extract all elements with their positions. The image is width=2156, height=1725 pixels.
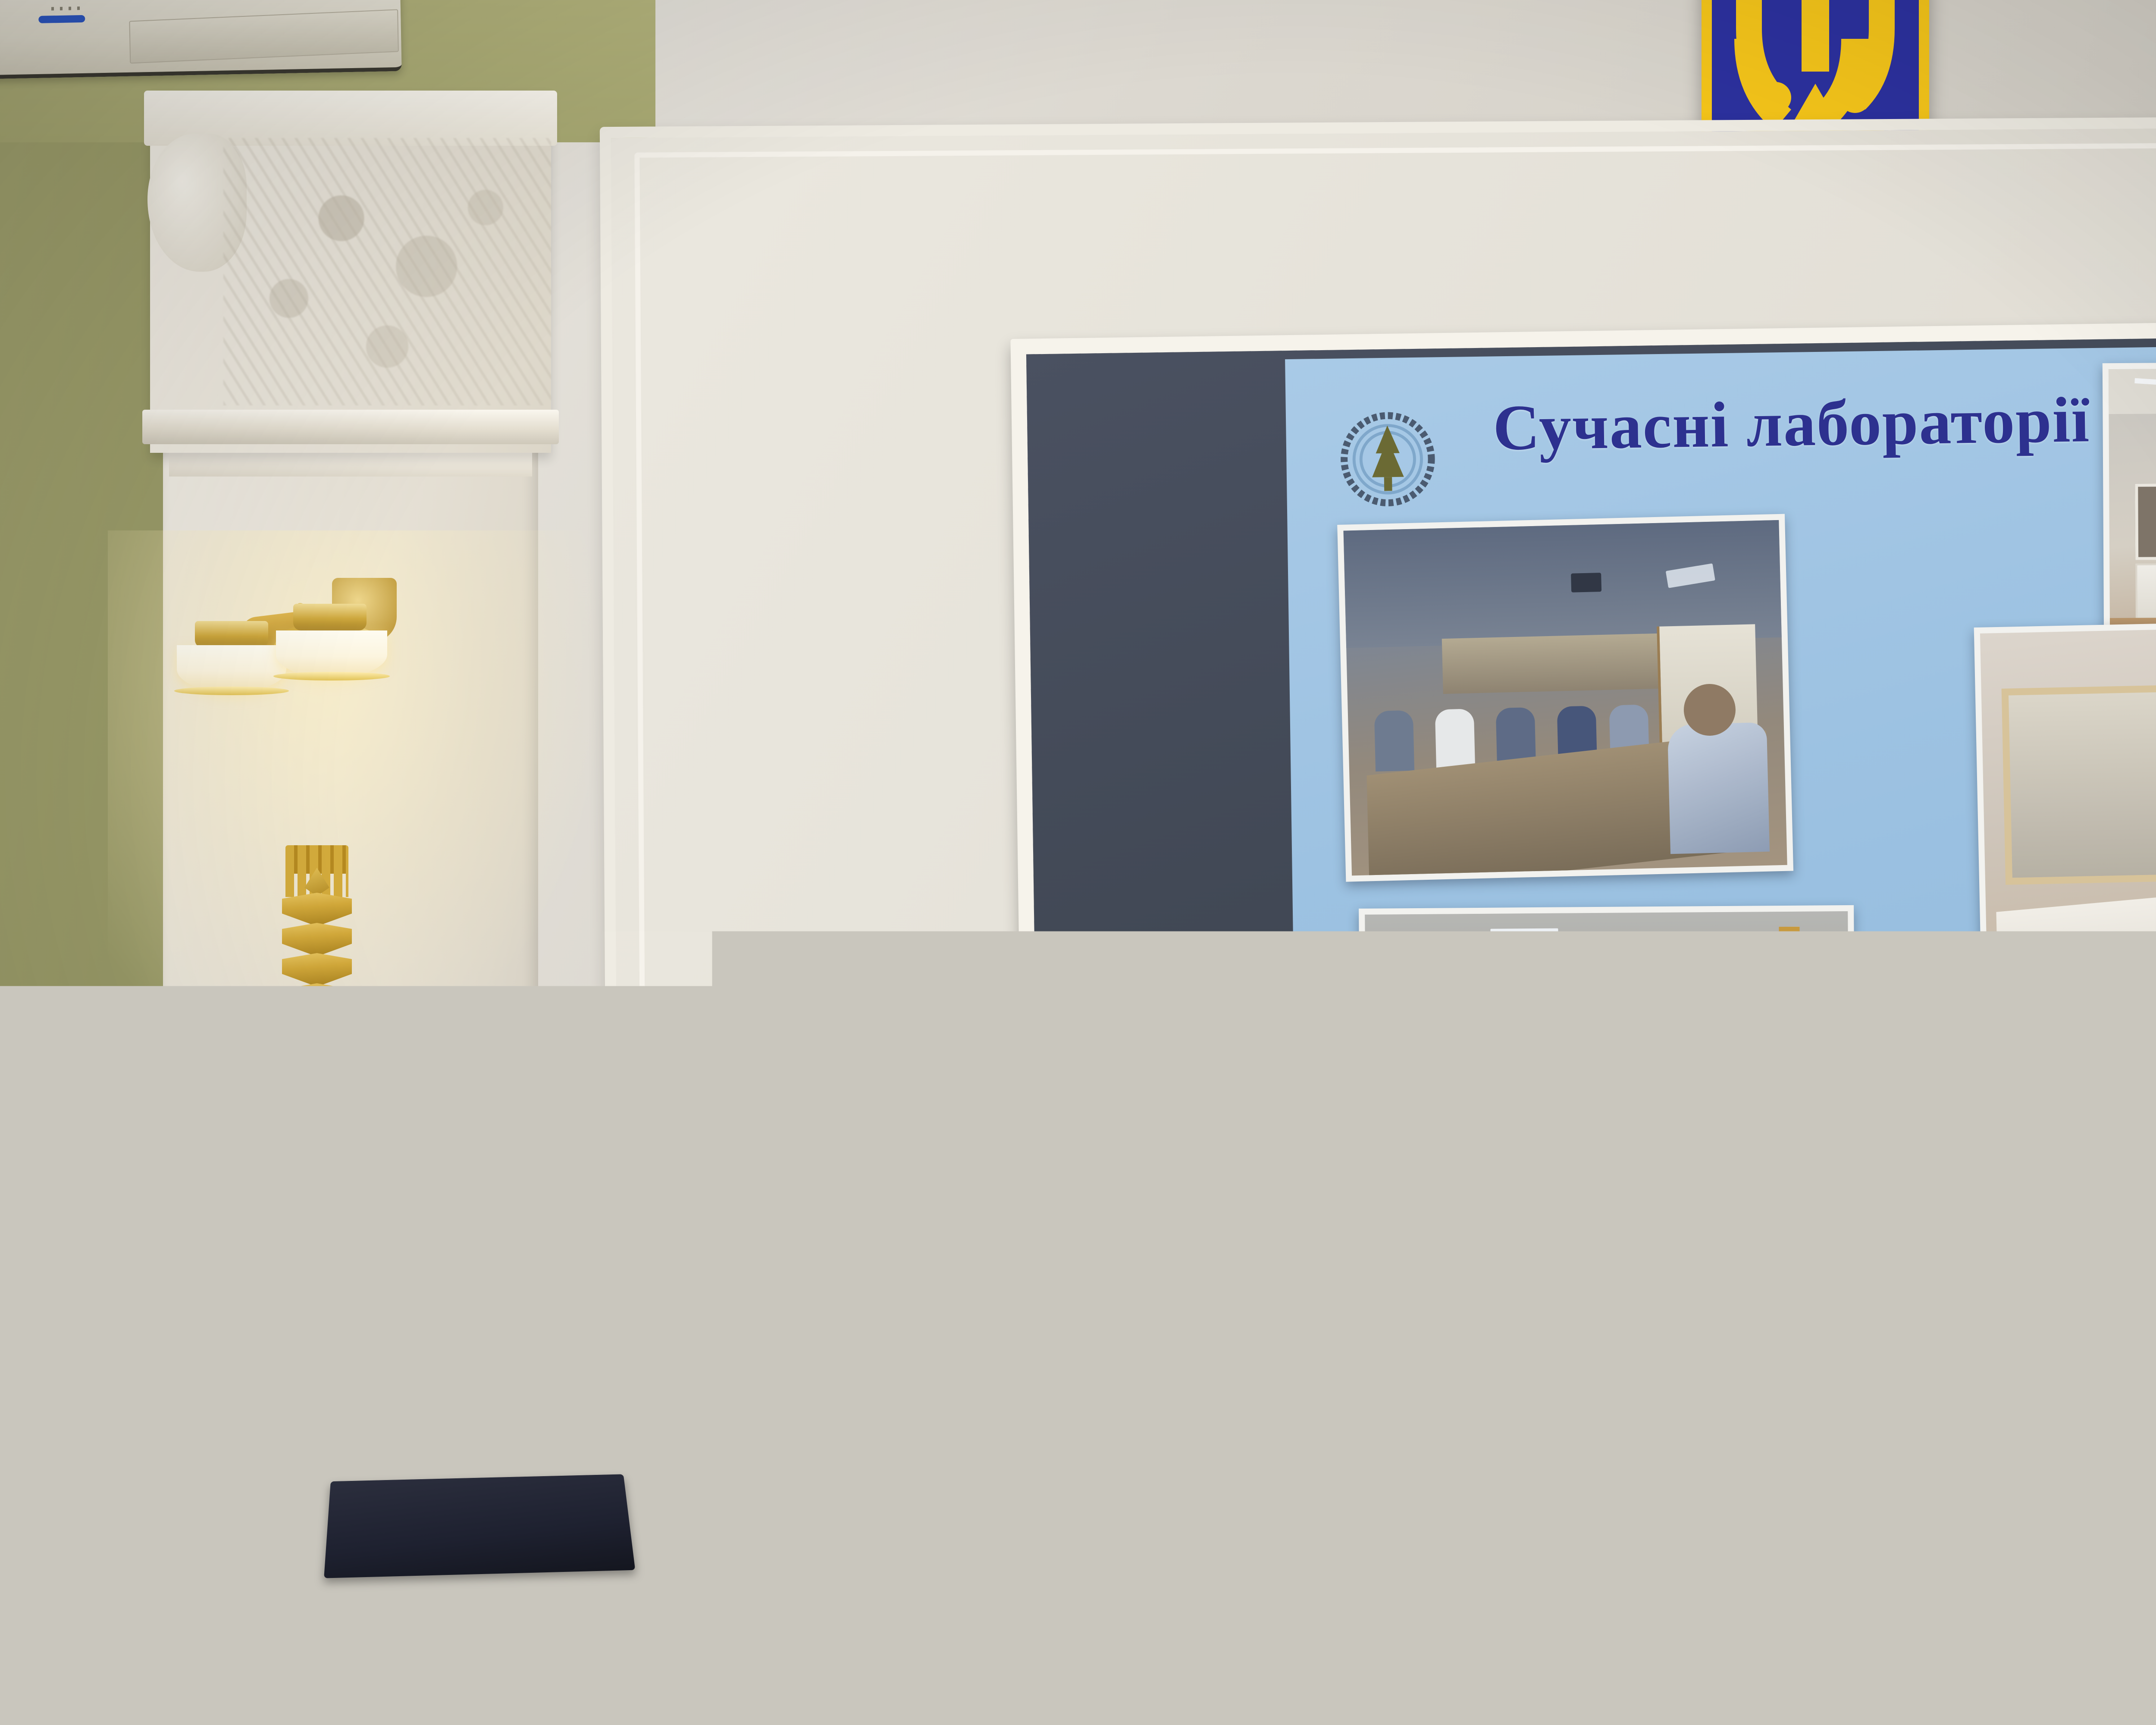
university-emblem-icon	[1338, 409, 1438, 509]
monitor-ports	[1315, 1673, 1554, 1686]
sconce-shade-lip-left	[174, 687, 289, 695]
wheat-leaf	[282, 953, 352, 987]
slide-title: Сучасні лабораторії	[1492, 383, 2090, 465]
wheat-leaf	[282, 1013, 352, 1047]
photograph-canvas: Сучасні лабораторії	[0, 0, 2156, 1725]
podium	[229, 1570, 763, 1725]
podium-wood-grain	[229, 1570, 763, 1725]
slide-photo-computer-classroom	[1337, 514, 1793, 882]
monitor-brand-label: acer	[1540, 1615, 1584, 1645]
monitor-rear-left: acer	[1285, 1596, 1608, 1725]
sconce-cap-left	[195, 621, 268, 648]
sconce-shade-right	[276, 630, 387, 678]
capital-base-molding	[142, 410, 559, 444]
air-conditioner	[0, 0, 402, 79]
speaker-hair	[538, 1255, 672, 1333]
slide-photo-empty-classroom	[1359, 905, 1856, 1300]
pilaster-capital	[150, 91, 551, 453]
wheat-leaf	[282, 983, 352, 1017]
chair-center-right	[2009, 1604, 2156, 1725]
wheat-leaf	[282, 1074, 352, 1107]
air-conditioner-sensor-dots	[51, 6, 81, 10]
pilaster-neck	[169, 451, 532, 477]
wheat-leaf	[282, 923, 352, 957]
slide-photo-glass-partition-lab	[2051, 992, 2156, 1308]
wheat-stem	[309, 1130, 325, 1150]
slide-photo-woodworking-workshop	[1974, 617, 2156, 1036]
chair-left	[875, 1587, 1117, 1725]
wheat-sheaf-ornament	[280, 845, 354, 1147]
air-conditioner-vent	[129, 9, 398, 63]
table-microphone-head-icon	[1764, 1603, 1784, 1634]
monitor-rear-right	[2152, 1596, 2156, 1725]
presentation-slide[interactable]: Сучасні лабораторії	[1285, 342, 2156, 1308]
wheat-leaf	[282, 1044, 352, 1077]
sconce-shade-left	[177, 645, 286, 693]
capital-floral-relief	[223, 138, 551, 405]
projection-screen-frame: Сучасні лабораторії	[1010, 317, 2156, 1375]
sconce-shade-lip-right	[273, 672, 390, 681]
speaker-ear	[530, 1324, 551, 1358]
wheat-leaf	[282, 893, 352, 926]
sconce-cap-right	[293, 604, 367, 630]
air-conditioner-led-icon	[38, 15, 85, 23]
